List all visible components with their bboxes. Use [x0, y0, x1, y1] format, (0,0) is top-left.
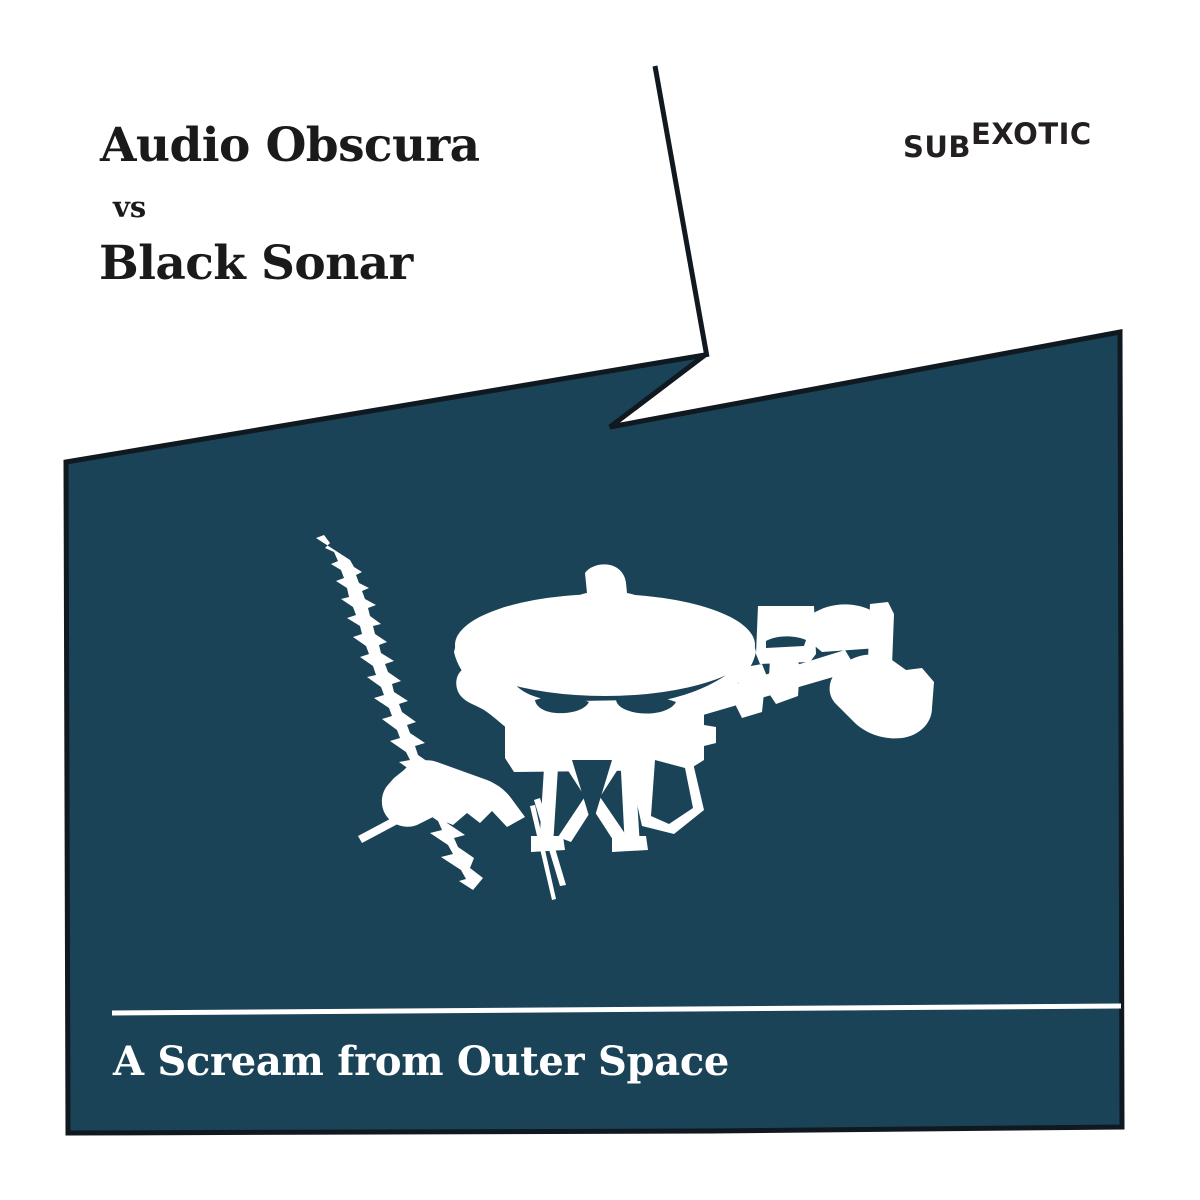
- instrument-box-left: [756, 606, 816, 664]
- cover-artwork: [0, 0, 1200, 1200]
- label-logo-exotic: EXOTIC: [971, 117, 1092, 151]
- truss-foot-right: [612, 836, 648, 852]
- label-logo-sub: SUB: [903, 130, 971, 164]
- boom-instrument-mid: [736, 664, 766, 718]
- boom-instrument-small: [768, 654, 800, 704]
- versus-label: vs: [113, 193, 146, 222]
- artist-name-secondary: Black Sonar: [99, 240, 413, 287]
- artist-name-primary: Audio Obscura: [100, 122, 480, 169]
- angled-flash-line: [655, 66, 707, 357]
- flash-line-stroke: [655, 66, 707, 357]
- album-cover: Audio Obscura vs Black Sonar SUBEXOTIC A…: [0, 0, 1200, 1200]
- release-title: A Scream from Outer Space: [113, 1042, 729, 1082]
- subexotic-label-logo[interactable]: SUBEXOTIC: [903, 133, 1092, 162]
